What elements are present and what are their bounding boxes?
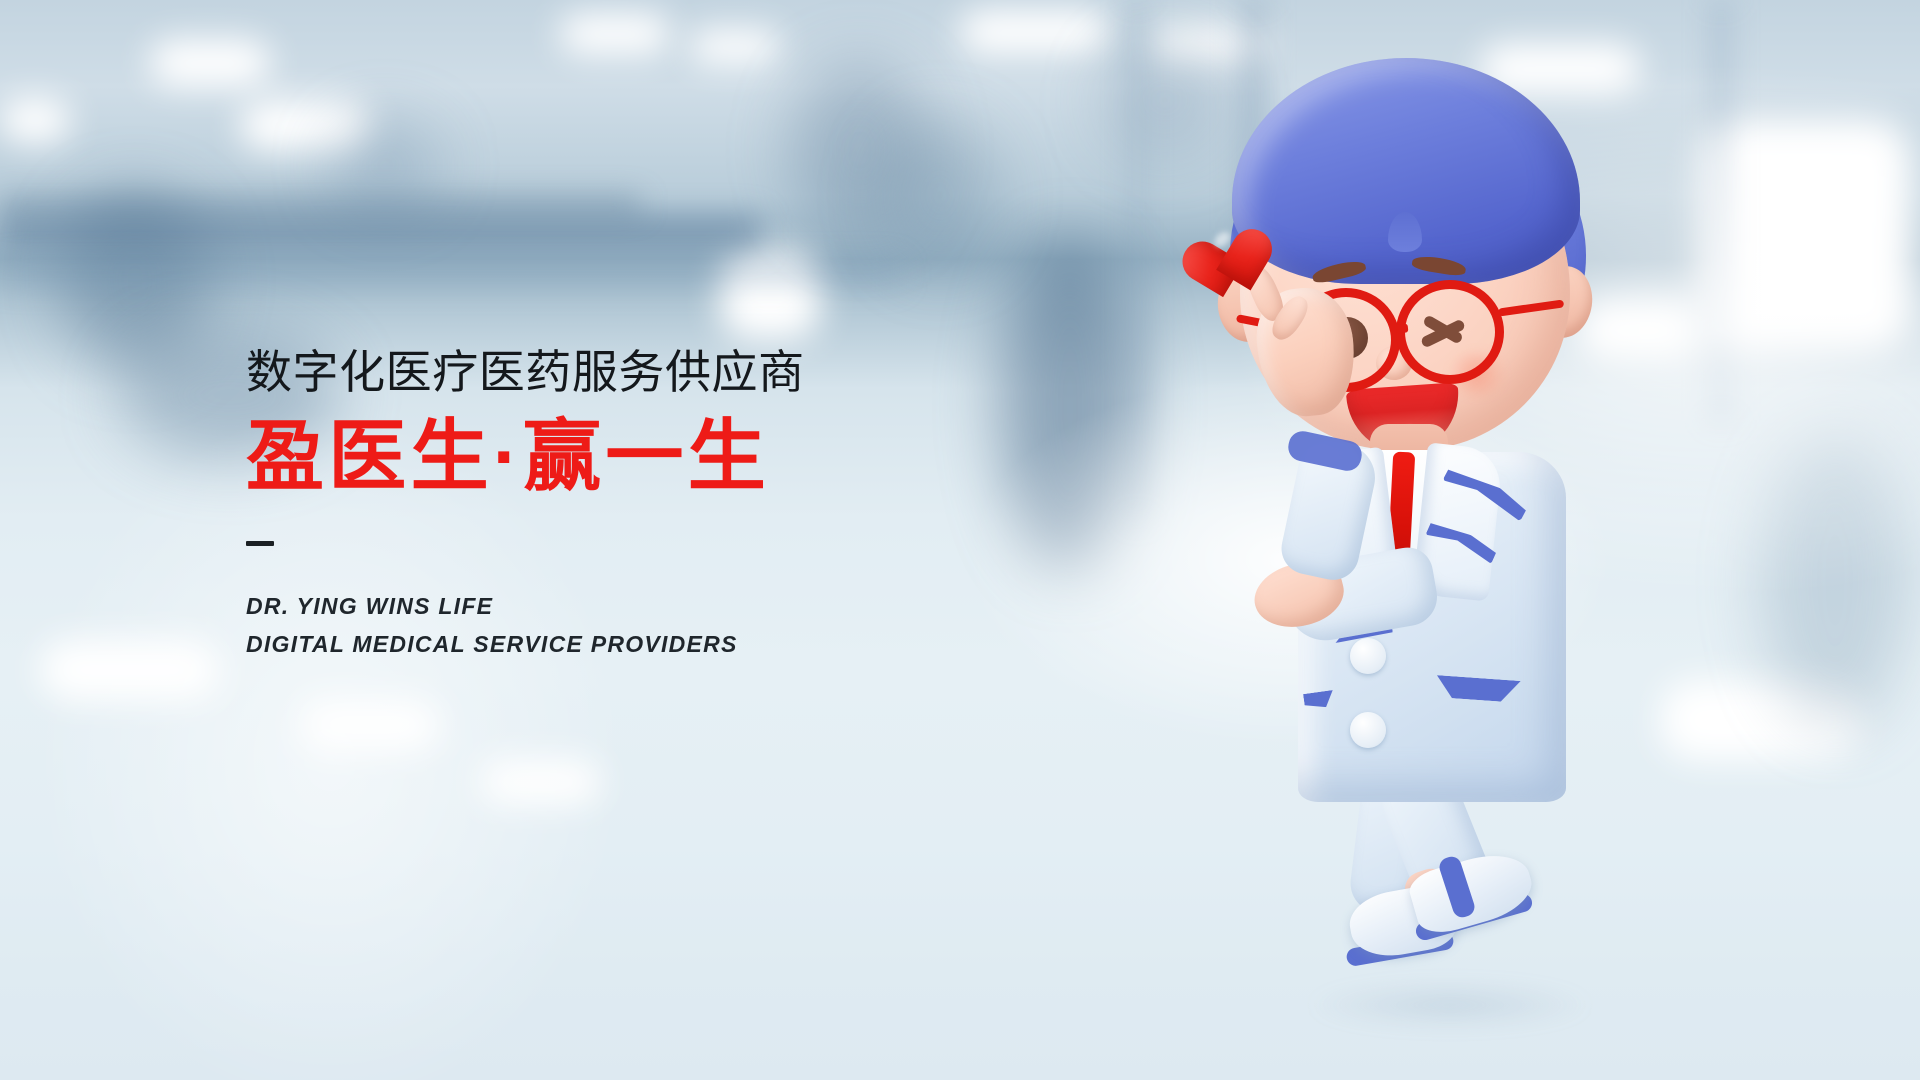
glasses-lens-right: [1396, 280, 1504, 384]
hero-copy-block: 数字化医疗医药服务供应商 盈医生·赢一生 DR. YING WINS LIFE …: [246, 348, 1006, 663]
page-title: 盈医生·赢一生: [246, 415, 1006, 498]
divider-rule: [246, 541, 274, 546]
english-subtitle-line-2: DIGITAL MEDICAL SERVICE PROVIDERS: [246, 626, 1006, 663]
hero-banner: 数字化医疗医药服务供应商 盈医生·赢一生 DR. YING WINS LIFE …: [0, 0, 1920, 1080]
coat-button-lower: [1350, 712, 1386, 748]
english-subtitle-line-1: DR. YING WINS LIFE: [246, 588, 1006, 625]
doctor-mascot-illustration: [1200, 52, 1680, 1052]
tagline-chinese: 数字化医疗医药服务供应商: [246, 348, 1006, 397]
english-subtitle-block: DR. YING WINS LIFE DIGITAL MEDICAL SERVI…: [246, 588, 1006, 663]
contact-shadow: [1310, 982, 1590, 1028]
glasses-bridge: [1396, 323, 1409, 333]
coat-button-upper: [1350, 638, 1386, 674]
